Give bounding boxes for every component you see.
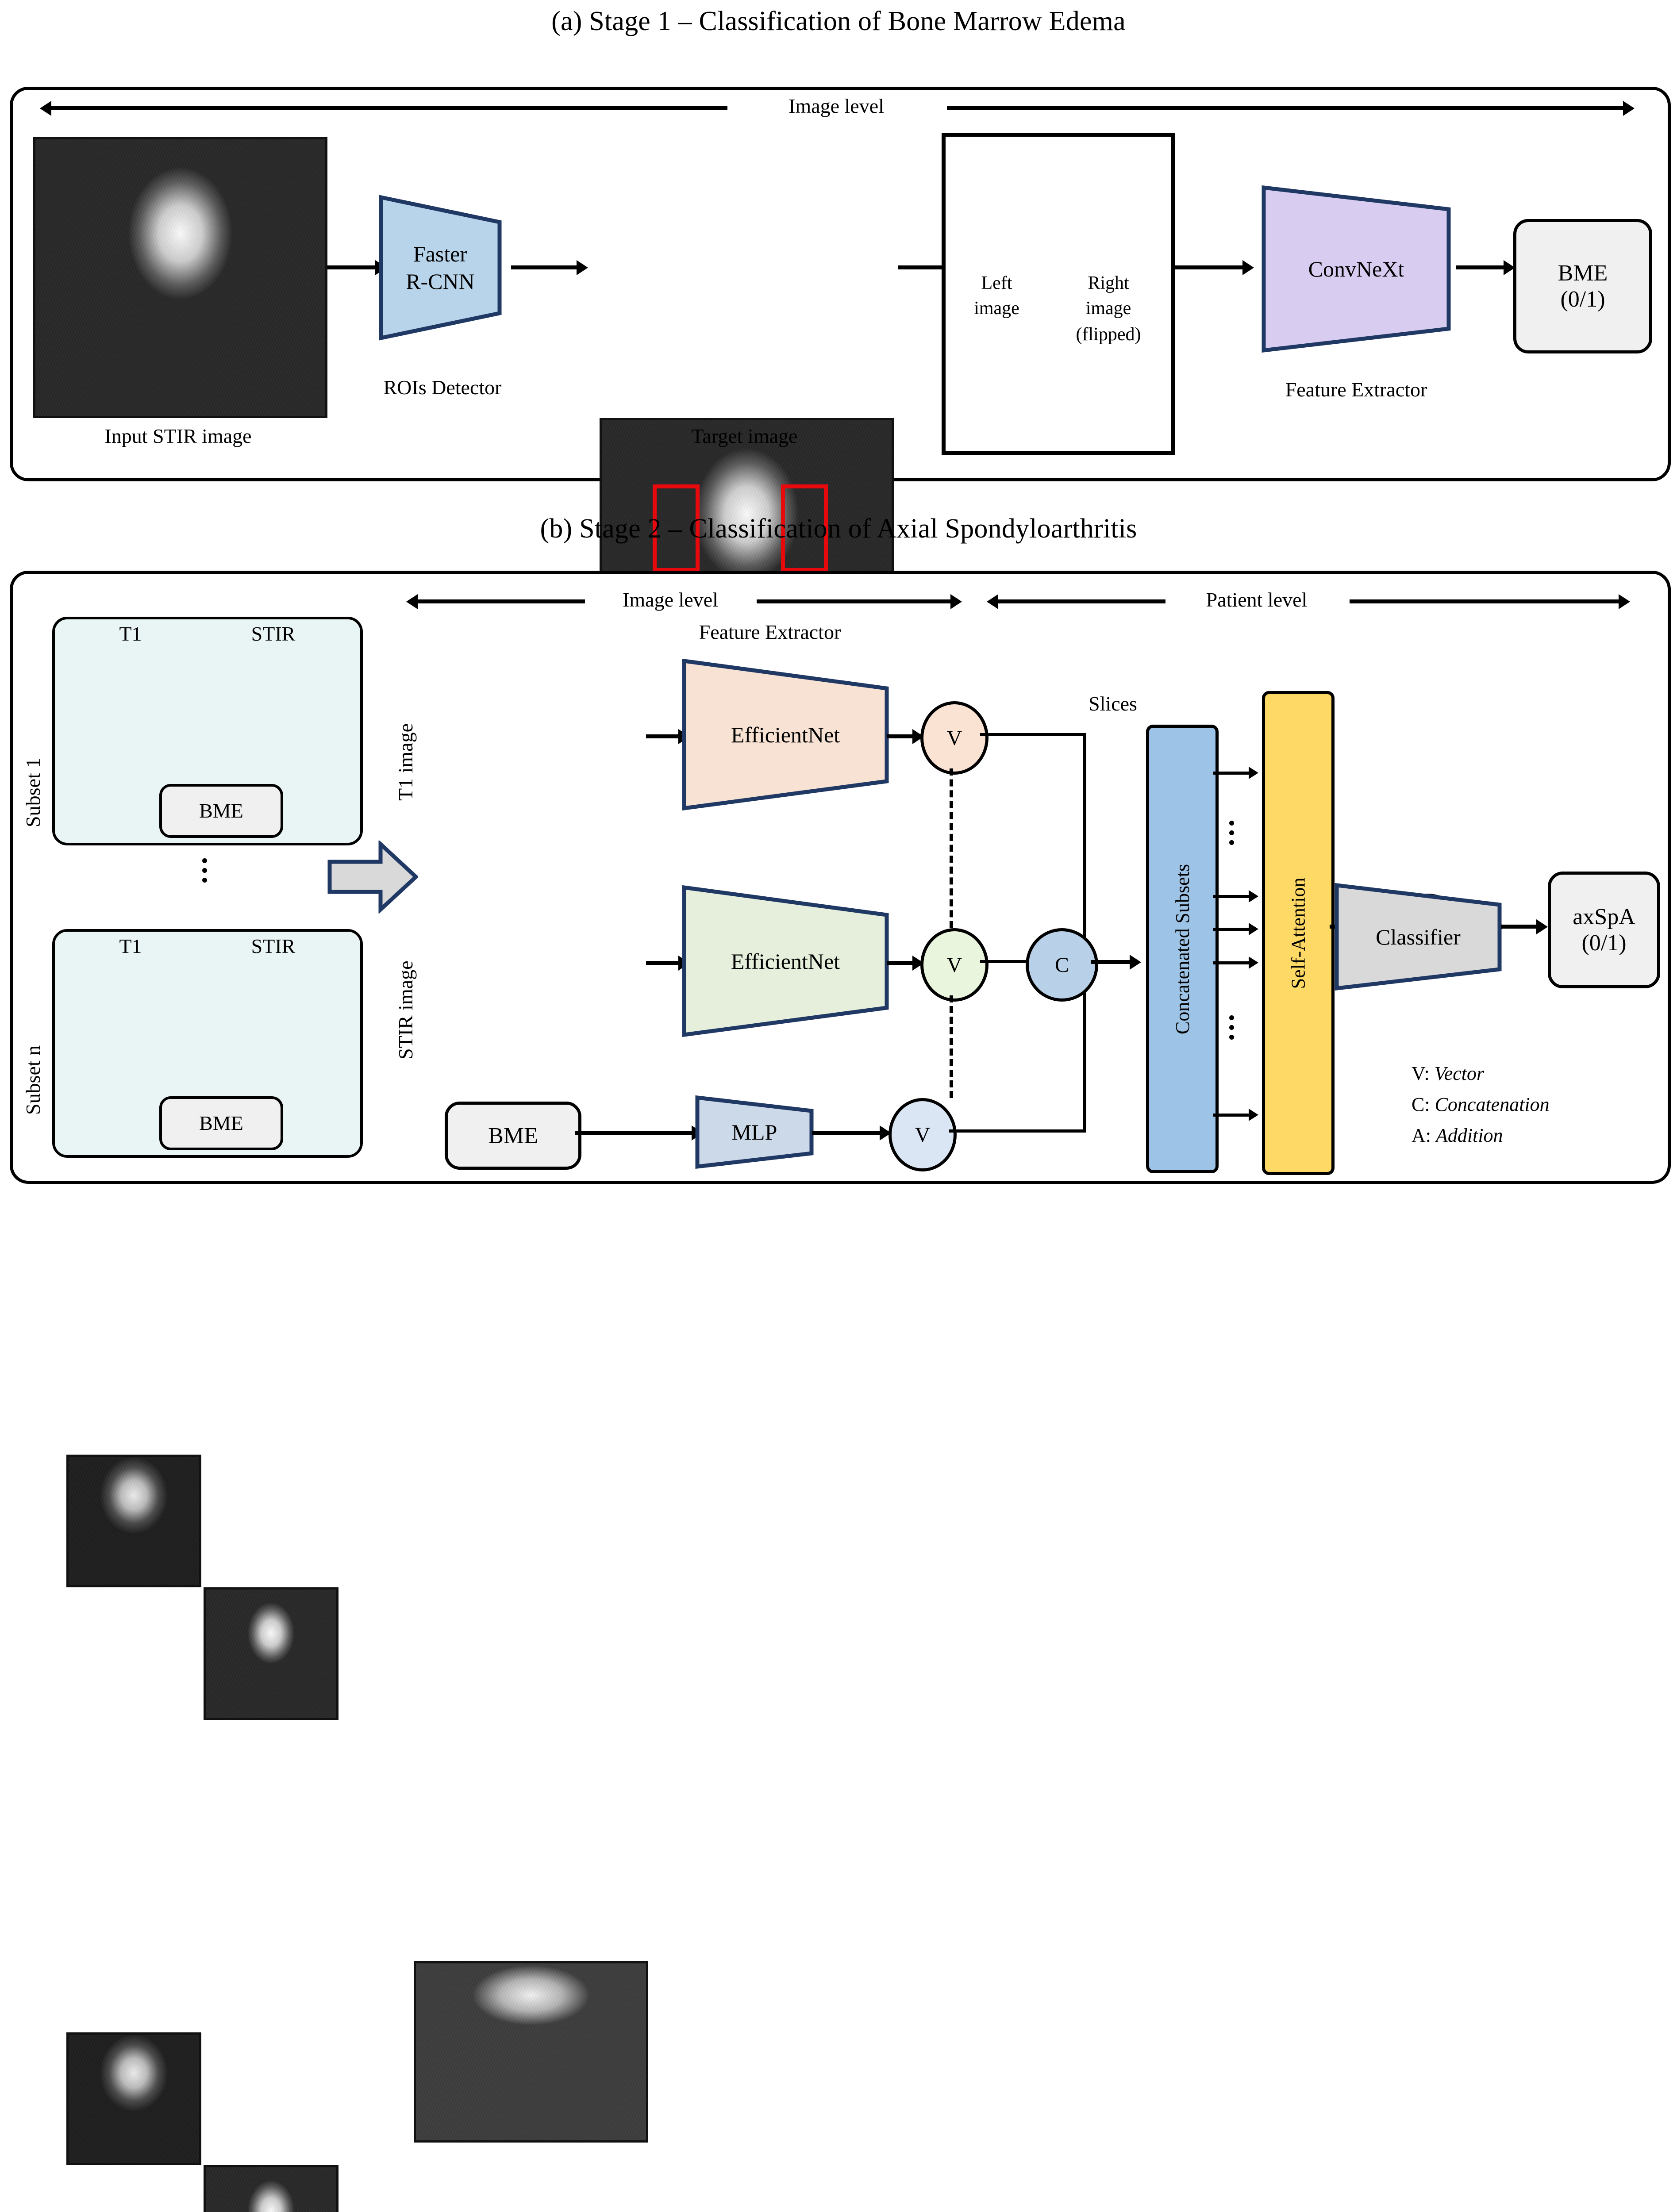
classifier-block: Classifier [1334, 883, 1502, 991]
concatenated-subsets-block: Concatenated Subsets [1146, 725, 1219, 1173]
roi-right-label-line2: image [1064, 297, 1153, 320]
subset-1-bme-box: BME [159, 784, 283, 838]
subset-n-stir-label: STIR [204, 933, 343, 960]
legend-row-c: C: Concatenation [1412, 1092, 1550, 1118]
subset-n-t1-label: T1 [66, 933, 195, 960]
arrow-effnet-t1-to-v-line [887, 734, 914, 738]
slice-arrow-3-head [1249, 923, 1258, 935]
vector-alignment-dash-upper [950, 768, 953, 928]
legend-value-a: Addition [1436, 1125, 1503, 1146]
legend-row-v: V: Vector [1412, 1061, 1484, 1087]
faster-rcnn-label-line1: Faster [413, 241, 467, 267]
slice-arrow-4-head [1249, 956, 1258, 969]
slice-ellipsis-lower [1229, 1015, 1234, 1040]
stage2-patient-level-arrow-left-head [987, 594, 998, 609]
arrow-rois-to-convnext-line [1175, 265, 1243, 269]
arrow-detector-to-target-head [577, 260, 588, 275]
concat-label: C [1055, 953, 1069, 977]
efficientnet-t1-block: EfficientNet [681, 658, 889, 811]
scope-arrow-right-line [947, 106, 1623, 110]
axspa-output-line2: (0/1) [1581, 930, 1626, 956]
concat-route-right-vertical [1083, 733, 1086, 1133]
slice-arrow-1-line [1213, 772, 1250, 775]
slice-arrow-4-line [1213, 961, 1250, 964]
subset-n-stir-image [204, 2165, 338, 2212]
arrow-bme-to-mlp-line [575, 1131, 692, 1135]
arrow-rois-to-convnext-head [1242, 260, 1254, 275]
subset-n-row-label: Subset n [21, 1045, 45, 1115]
vector-bme-node: V [889, 1098, 957, 1171]
arrow-input-to-detector-line [327, 265, 376, 269]
vector-t1-node: V [920, 701, 989, 775]
legend-key-c: C: [1412, 1094, 1435, 1115]
stage2-bme-input-label: BME [488, 1123, 538, 1149]
subset-1-t1-label: T1 [66, 620, 195, 648]
arrow-effnet-stir-to-v-line [887, 961, 914, 965]
efficientnet-stir-label: EfficientNet [731, 949, 840, 974]
stage2-patient-level-arrow-right-line [1350, 599, 1619, 603]
concat-node: C [1026, 928, 1098, 1002]
subset-1-stir-label: STIR [204, 620, 343, 648]
slice-arrow-3-line [1213, 928, 1250, 931]
slice-ellipsis-upper [1229, 821, 1234, 845]
scope-arrow-left-line [50, 106, 727, 110]
convnext-block: ConvNeXt [1261, 185, 1451, 353]
slice-arrow-5-head [1249, 1109, 1258, 1121]
classifier-label: Classifier [1376, 924, 1461, 950]
convnext-label: ConvNeXt [1308, 256, 1404, 282]
axspa-output-line1: axSpA [1573, 904, 1635, 930]
self-attention-label: Self-Attention [1287, 877, 1310, 989]
stage2-caption: (b) Stage 2 – Classification of Axial Sp… [0, 511, 1677, 546]
arrow-t1-to-effnet-line [646, 734, 679, 738]
efficientnet-t1-label: EfficientNet [731, 722, 840, 748]
vector-bme-label: V [915, 1123, 931, 1147]
arrow-convnext-to-bme-line [1456, 265, 1504, 269]
stage2-image-level-arrow-right-line [757, 599, 951, 603]
bme-output-box: BME (0/1) [1513, 219, 1652, 353]
efficientnet-stir-block: EfficientNet [681, 885, 889, 1037]
stage2-bme-input-box: BME [445, 1102, 581, 1170]
legend-key-a: A: [1412, 1125, 1436, 1146]
legend-value-v: Vector [1435, 1063, 1484, 1084]
slice-arrow-2-line [1213, 895, 1250, 898]
arrow-concat-to-subsets-line [1091, 960, 1131, 964]
legend-value-c: Concatenation [1435, 1094, 1550, 1115]
bme-output-line2: (0/1) [1560, 286, 1605, 312]
roi-left-label-line1: Left [954, 272, 1040, 295]
concat-route-middle [980, 960, 1033, 963]
faster-rcnn-block: Faster R-CNN [378, 195, 502, 341]
stage1-caption: (a) Stage 1 – Classification of Bone Mar… [0, 4, 1677, 39]
subset-n-bme-label: BME [199, 1112, 243, 1135]
slice-arrow-5-line [1213, 1114, 1250, 1117]
concat-route-top [980, 733, 1086, 736]
scope-arrow-right-head [1623, 101, 1635, 116]
stage2-image-level-arrow-left-line [417, 599, 585, 603]
detector-caption: ROIs Detector [350, 374, 535, 401]
image-texture [206, 1590, 336, 1718]
arrow-concat-to-subsets-head [1130, 955, 1141, 970]
stage2-patient-level-label: Patient level [1168, 584, 1345, 616]
concat-route-bottom [949, 1129, 1086, 1133]
scope-arrow-left-head [40, 101, 51, 116]
concatenated-subsets-label: Concatenated Subsets [1171, 864, 1194, 1034]
stir-image-label: STIR image [394, 960, 417, 1060]
mlp-label: MLP [732, 1119, 777, 1145]
subsets-to-images-block-arrow [327, 841, 418, 914]
stage2-patient-level-arrow-right-head [1619, 594, 1630, 609]
image-texture [35, 139, 325, 416]
faster-rcnn-label-line2: R-CNN [406, 269, 475, 294]
arrow-classifier-to-output-head [1536, 919, 1548, 934]
slice-arrow-1-head [1249, 767, 1258, 779]
subset-1-t1-image [66, 1455, 201, 1587]
stage2-patient-level-arrow-left-line [997, 599, 1165, 603]
roi-left-label-line2: image [954, 297, 1040, 320]
subset-1-stir-image [204, 1587, 338, 1720]
roi-right-label-line3: (flipped) [1060, 323, 1157, 347]
image-texture [69, 2035, 199, 2163]
mlp-block: MLP [695, 1095, 814, 1169]
stage2-image-level-arrow-left-head [406, 594, 418, 609]
vector-stir-label: V [947, 953, 962, 977]
arrow-stir-to-effnet-line [646, 961, 679, 965]
stage1-scope-label: Image level [730, 90, 942, 122]
stage1-feature-extractor-caption: Feature Extractor [1237, 376, 1476, 403]
subset-1-row-label: Subset 1 [21, 758, 45, 827]
slices-label: Slices [1058, 690, 1168, 718]
input-stir-image-label: Input STIR image [33, 422, 323, 450]
stage2-feature-extractor-caption: Feature Extractor [650, 618, 889, 646]
t1-image-label: T1 image [394, 723, 417, 801]
stage2-t1-image [414, 1961, 648, 2143]
arrow-detector-to-target-line [511, 265, 577, 269]
legend-key-v: V: [1412, 1063, 1435, 1084]
self-attention-block: Self-Attention [1262, 691, 1335, 1175]
bme-output-line1: BME [1558, 260, 1608, 286]
slice-arrow-2-head [1249, 890, 1258, 902]
image-texture [206, 2167, 336, 2212]
subsets-ellipsis [202, 858, 207, 883]
image-texture [69, 1457, 199, 1585]
legend-row-a: A: Addition [1412, 1123, 1503, 1149]
subset-1-bme-label: BME [199, 799, 243, 822]
vector-stir-node: V [920, 928, 989, 1002]
stage2-image-level-label: Image level [588, 584, 752, 616]
arrow-classifier-to-output-line [1501, 925, 1537, 929]
vector-t1-label: V [947, 726, 962, 750]
roi-right-label-line1: Right [1064, 272, 1153, 295]
image-texture [416, 1963, 646, 2140]
vector-alignment-dash-lower [950, 995, 953, 1098]
target-image-label: Target image [600, 422, 889, 450]
subset-n-bme-box: BME [159, 1096, 283, 1150]
input-stir-image [33, 137, 327, 418]
arrow-mlp-to-v-line [812, 1131, 881, 1135]
subset-n-t1-image [66, 2032, 201, 2165]
stage2-image-level-arrow-right-head [950, 594, 962, 609]
axspa-output-box: axSpA (0/1) [1548, 872, 1660, 988]
